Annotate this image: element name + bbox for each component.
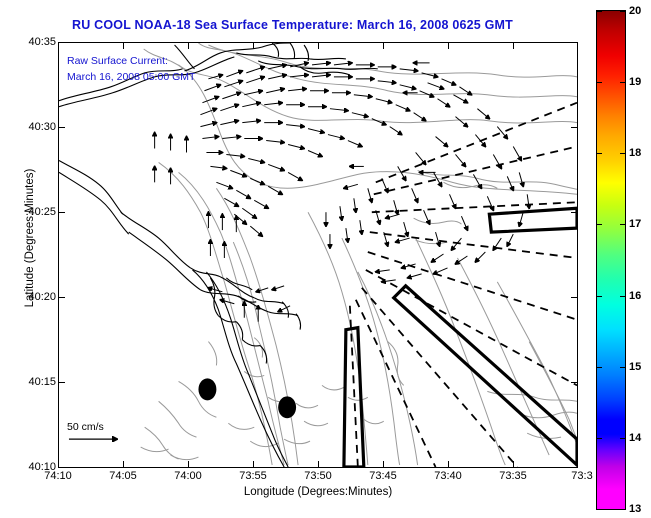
colorbar-tick (596, 153, 602, 154)
scale-label: 50 cm/s (67, 421, 104, 433)
colorbar-tick-right (620, 296, 626, 297)
annotation-timestamp: March 16, 2008 05:00 GMT (67, 71, 195, 83)
surface-current-vectors (155, 63, 530, 322)
y-tick-label: 40:15 (8, 376, 56, 388)
y-tick-mark-right (571, 212, 578, 213)
y-tick-mark (58, 382, 65, 383)
x-tick-mark-top (188, 42, 189, 49)
colorbar-tick-right (620, 11, 626, 12)
colorbar-label: 18 (629, 147, 641, 159)
y-tick-mark (58, 127, 65, 128)
colorbar-label: 17 (629, 218, 641, 230)
y-tick-mark-right (571, 297, 578, 298)
x-axis-title: Longitude (Degrees:Minutes) (58, 486, 578, 498)
sst-contour-lines (141, 43, 577, 465)
x-tick-label: 74:10 (44, 470, 72, 482)
station-markers (198, 378, 296, 418)
x-tick-mark (577, 461, 578, 468)
x-tick-label: 73:50 (304, 470, 332, 482)
x-tick-mark (448, 461, 449, 468)
map-canvas (59, 43, 577, 467)
x-tick-mark (58, 461, 59, 468)
colorbar-label: 13 (629, 503, 641, 515)
colorbar-tick (596, 296, 602, 297)
y-tick-mark (58, 212, 65, 213)
x-tick-label: 74:05 (109, 470, 137, 482)
x-tick-mark (188, 461, 189, 468)
colorbar-tick (596, 11, 602, 12)
y-tick-label: 40:35 (8, 36, 56, 48)
x-tick-mark (253, 461, 254, 468)
colorbar-label: 15 (629, 361, 641, 373)
x-tick-label: 73:40 (434, 470, 462, 482)
colorbar[interactable] (596, 10, 626, 510)
x-tick-mark-top (383, 42, 384, 49)
map-plot-area[interactable]: Raw Surface Current: March 16, 2008 05:0… (58, 42, 578, 468)
x-tick-label: 73:55 (239, 470, 267, 482)
y-axis-title: Latitude (Degrees:Minutes) (24, 113, 36, 363)
y-tick-mark-right (571, 42, 578, 43)
x-tick-label: 73:35 (499, 470, 527, 482)
x-tick-mark-top (448, 42, 449, 49)
colorbar-label: 14 (629, 432, 641, 444)
coastline (59, 43, 378, 467)
y-tick-mark-right (571, 382, 578, 383)
y-tick-mark (58, 467, 65, 468)
colorbar-tick-right (620, 82, 626, 83)
dashed-radial-transects (350, 103, 577, 467)
x-tick-mark-top (123, 42, 124, 49)
colorbar-tick (596, 438, 602, 439)
x-tick-mark (383, 461, 384, 468)
y-tick-mark (58, 297, 65, 298)
colorbar-tick-right (620, 438, 626, 439)
x-tick-mark (513, 461, 514, 468)
colorbar-tick-right (620, 367, 626, 368)
x-tick-mark (318, 461, 319, 468)
colorbar-tick-right (620, 153, 626, 154)
x-tick-mark-top (513, 42, 514, 49)
colorbar-label: 19 (629, 76, 641, 88)
x-tick-label: 73:3 (571, 470, 592, 482)
y-tick-mark (58, 42, 65, 43)
x-tick-mark-top (318, 42, 319, 49)
colorbar-tick (596, 224, 602, 225)
colorbar-label: 16 (629, 290, 641, 302)
colorbar-tick-right (620, 224, 626, 225)
x-tick-mark (123, 461, 124, 468)
x-tick-mark-top (253, 42, 254, 49)
colorbar-tick (596, 509, 602, 510)
colorbar-tick-right (620, 509, 626, 510)
x-tick-label: 74:00 (174, 470, 202, 482)
figure-root: RU COOL NOAA-18 Sea Surface Temperature:… (0, 0, 651, 518)
y-tick-mark-right (571, 127, 578, 128)
x-tick-label: 73:45 (369, 470, 397, 482)
colorbar-tick (596, 82, 602, 83)
colorbar-tick (596, 367, 602, 368)
annotation-raw-surface-current: Raw Surface Current: (67, 55, 168, 67)
page-title: RU COOL NOAA-18 Sea Surface Temperature:… (0, 18, 585, 32)
colorbar-label: 20 (629, 5, 641, 17)
